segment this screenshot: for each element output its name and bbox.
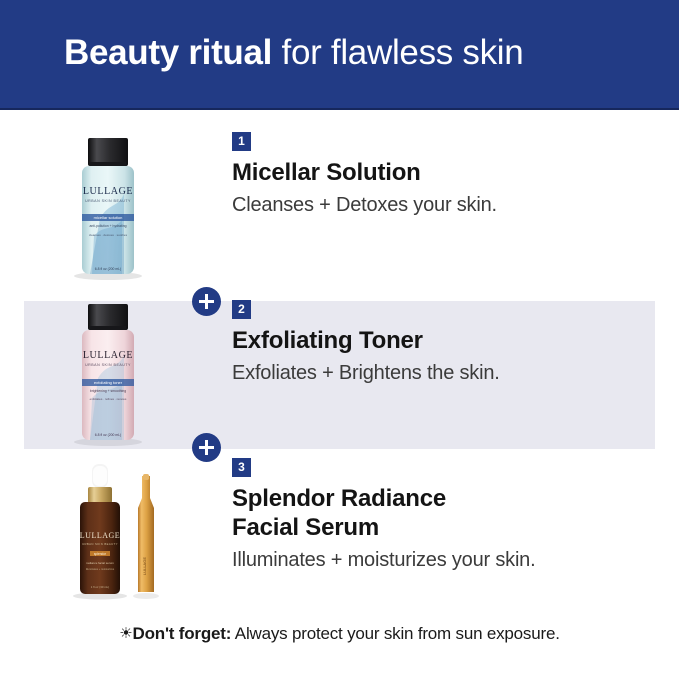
- step-3-title-line-2: Facial Serum: [232, 513, 662, 542]
- step-3-title-line-1: Splendor Radiance: [232, 484, 662, 513]
- step-2-description: Exfoliates + Brightens the skin.: [232, 360, 662, 386]
- product-image-micellar-solution: LULLAGE URBAN SKIN BEAUTY micellar solut…: [60, 132, 220, 282]
- svg-text:LULLAGE: LULLAGE: [83, 350, 133, 361]
- step-3-number-badge: 3: [232, 458, 251, 477]
- svg-text:LULLAGE: LULLAGE: [142, 557, 147, 575]
- svg-text:URBAN SKIN BEAUTY: URBAN SKIN BEAUTY: [85, 363, 131, 367]
- svg-text:anti-pollution + hydrating: anti-pollution + hydrating: [89, 224, 126, 228]
- step-2-text-block: 2 Exfoliating Toner Exfoliates + Brighte…: [232, 300, 662, 386]
- svg-text:LULLAGE: LULLAGE: [80, 531, 120, 540]
- svg-text:splendor: splendor: [94, 552, 107, 556]
- step-3-description: Illuminates + moisturizes your skin.: [232, 547, 662, 573]
- svg-text:URBAN SKIN BEAUTY: URBAN SKIN BEAUTY: [85, 199, 131, 203]
- step-2-number-badge: 2: [232, 300, 251, 319]
- product-image-splendor-radiance-serum: LULLAGE URBAN SKIN BEAUTY splendor radia…: [60, 458, 220, 608]
- svg-text:exfoliating toner: exfoliating toner: [94, 380, 123, 385]
- svg-text:cleanses · detoxes · soothes: cleanses · detoxes · soothes: [89, 233, 128, 237]
- svg-text:exfoliates · refines · renews: exfoliates · refines · renews: [90, 397, 127, 401]
- step-2-title: Exfoliating Toner: [232, 326, 662, 355]
- svg-text:6.8 fl oz (200 mL): 6.8 fl oz (200 mL): [95, 433, 121, 437]
- svg-text:6.8 fl oz (200 mL): 6.8 fl oz (200 mL): [95, 267, 121, 271]
- svg-text:radiance facial serum: radiance facial serum: [86, 561, 114, 565]
- footer-note-bold: Don't forget:: [133, 624, 232, 643]
- step-row-1: LULLAGE URBAN SKIN BEAUTY micellar solut…: [0, 132, 679, 292]
- sun-icon: ☀: [119, 625, 132, 642]
- step-3-text-block: 3 Splendor Radiance Facial Serum Illumin…: [232, 458, 662, 573]
- footer-note: ☀Don't forget: Always protect your skin …: [0, 622, 679, 646]
- svg-text:brightening + smoothing: brightening + smoothing: [90, 389, 126, 393]
- header-banner: Beauty ritual for flawless skin: [0, 0, 679, 110]
- svg-text:LULLAGE: LULLAGE: [83, 186, 133, 197]
- svg-text:illuminates + moisturizes: illuminates + moisturizes: [86, 567, 115, 571]
- step-3-title: Splendor Radiance Facial Serum: [232, 484, 662, 542]
- step-1-description: Cleanses + Detoxes your skin.: [232, 192, 662, 218]
- step-1-text-block: 1 Micellar Solution Cleanses + Detoxes y…: [232, 132, 662, 218]
- product-image-exfoliating-toner: LULLAGE URBAN SKIN BEAUTY exfoliating to…: [60, 300, 220, 450]
- svg-text:1 fl oz (30 mL): 1 fl oz (30 mL): [91, 585, 110, 589]
- step-1-number-badge: 1: [232, 132, 251, 151]
- footer-note-text: Always protect your skin from sun exposu…: [231, 624, 560, 643]
- page-title-light: for flawless skin: [272, 33, 523, 72]
- svg-text:URBAN SKIN BEAUTY: URBAN SKIN BEAUTY: [82, 542, 118, 546]
- page-title-bold: Beauty ritual: [64, 33, 272, 72]
- page-title: Beauty ritual for flawless skin: [64, 30, 523, 75]
- step-row-3: LULLAGE URBAN SKIN BEAUTY splendor radia…: [0, 458, 679, 608]
- step-1-title: Micellar Solution: [232, 158, 662, 187]
- step-row-2: LULLAGE URBAN SKIN BEAUTY exfoliating to…: [0, 300, 679, 450]
- svg-text:micellar solution: micellar solution: [94, 215, 123, 220]
